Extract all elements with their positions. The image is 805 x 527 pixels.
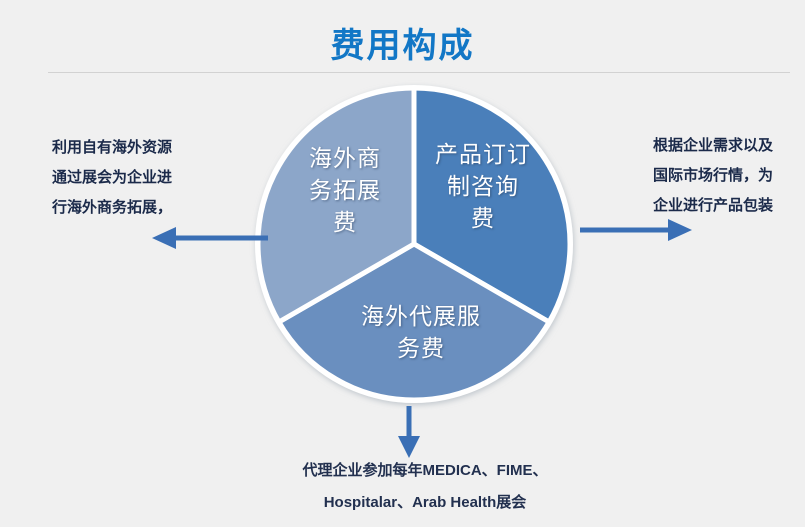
page-title: 费用构成 <box>0 18 805 67</box>
callout-line: 代理企业参加每年MEDICA、FIME、 <box>255 455 595 487</box>
title-divider <box>48 72 790 73</box>
arrow-left-icon <box>152 222 268 254</box>
pie-svg <box>248 78 580 410</box>
callout-left-text: 利用自有海外资源 通过展会为企业进 行海外商务拓展， <box>52 133 248 223</box>
callout-line: 通过展会为企业进 <box>52 163 248 193</box>
callout-right-text: 根据企业需求以及 国际市场行情，为 企业进行产品包装 <box>625 131 801 221</box>
callout-line: Hospitalar、Arab Health展会 <box>255 487 595 519</box>
callout-bottom-text: 代理企业参加每年MEDICA、FIME、 Hospitalar、Arab Hea… <box>255 455 595 519</box>
callout-line: 根据企业需求以及 <box>625 131 801 161</box>
callout-line: 企业进行产品包装 <box>625 191 801 221</box>
callout-line: 行海外商务拓展， <box>52 193 248 223</box>
cost-composition-pie-chart: 产品订订 制咨询 费 海外商 务拓展 费 海外代展服 务费 <box>248 78 580 410</box>
arrow-down-icon <box>392 406 426 458</box>
callout-line: 利用自有海外资源 <box>52 133 248 163</box>
callout-line: 国际市场行情，为 <box>625 161 801 191</box>
infographic-canvas: 费用构成 产品订订 制咨询 费 海外商 务拓展 <box>0 0 805 527</box>
arrow-left <box>152 222 268 259</box>
